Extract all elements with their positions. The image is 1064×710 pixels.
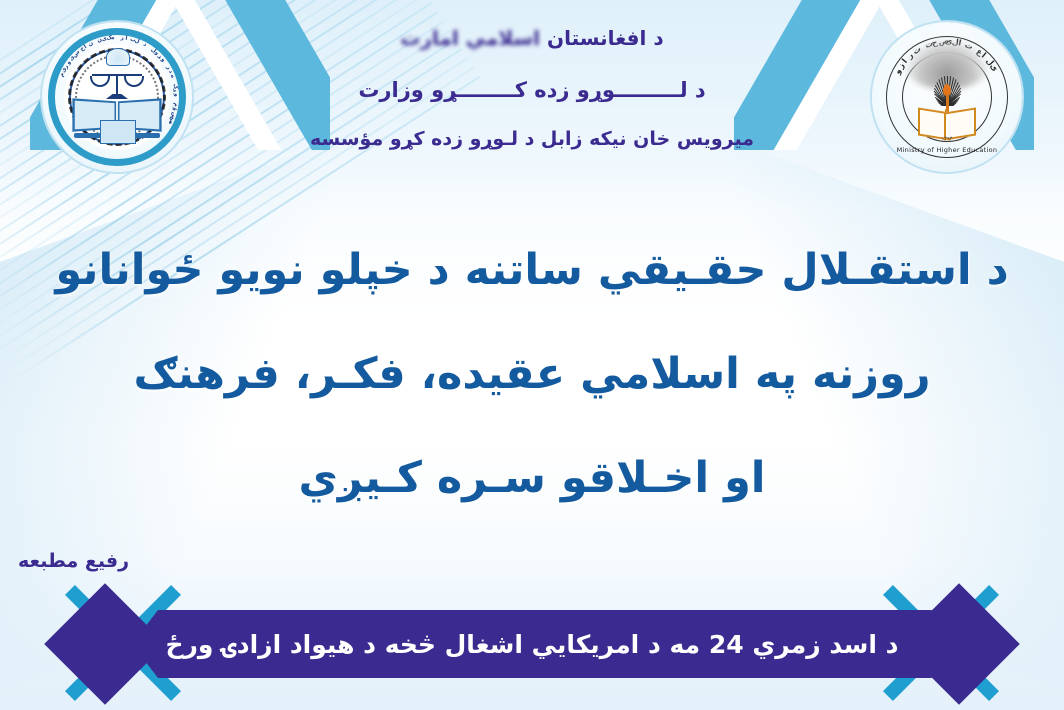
- right-purple-diamond: [898, 583, 1020, 705]
- poster-canvas: میرویس خان نیکه زابل د لوړو زده کړو مؤسس…: [0, 0, 1064, 710]
- independence-day-banner: د اسد زمري 24 مه د امریکایي اشغال څخه د …: [132, 610, 932, 678]
- printer-credit: رفیع مطبعه: [18, 550, 129, 572]
- banner-text: د اسد زمري 24 مه د امریکایي اشغال څخه د …: [165, 630, 898, 659]
- title-line-1: د استقـلال حقـیقي ساتنه د خپلو نویو ځوان…: [0, 248, 1064, 293]
- title-line-3: او اخـلاقو سـره کـیږي: [0, 456, 1064, 501]
- header-line-institute: میرویس خان نیکه زابل د لـوړو زده کړو مؤس…: [0, 128, 1064, 150]
- header-line1-visible: د افغانستان: [547, 26, 664, 50]
- header-line-emirate: د افغانستان اسلامي امارت: [0, 26, 1064, 50]
- title-line-2: روزنه په اسلامي عقیده، فکـر، فرهنګ: [0, 352, 1064, 397]
- crown-icon: [106, 48, 130, 66]
- header-line-ministry: د لـــــــــوړو زده کــــــــړو وزارت: [0, 78, 1064, 102]
- header-line1-blurred: اسلامي امارت: [400, 26, 540, 50]
- bottom-banner-zone: د اسد زمري 24 مه د امریکایي اشغال څخه د …: [0, 600, 1064, 688]
